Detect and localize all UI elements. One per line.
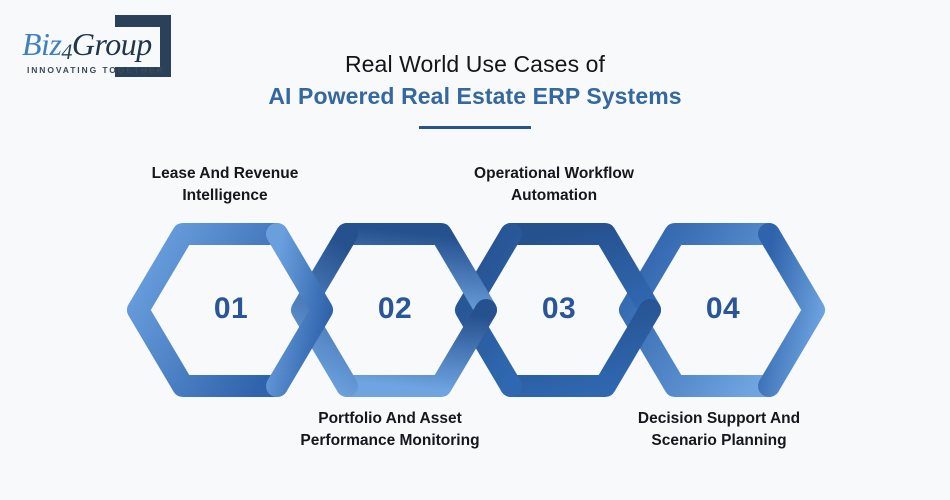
step-label-03-line2: Automation xyxy=(424,185,684,207)
logo-word-biz: Biz xyxy=(22,26,61,62)
logo-tagline: INNOVATING TOGETHER xyxy=(27,65,165,75)
hexagon-chain: 04 03 xyxy=(125,212,825,408)
step-label-01-line2: Intelligence xyxy=(95,185,355,207)
logo-word-group: Group xyxy=(72,26,152,62)
logo-wordmark: Biz4Group xyxy=(22,26,152,63)
step-label-04-line1: Decision Support And xyxy=(589,408,849,430)
step-label-02-line2: Performance Monitoring xyxy=(260,430,520,452)
step-label-01-line1: Lease And Revenue xyxy=(95,163,355,185)
step-label-02: Portfolio And Asset Performance Monitori… xyxy=(260,408,520,452)
step-label-04-line2: Scenario Planning xyxy=(589,430,849,452)
title-divider xyxy=(419,126,531,129)
hexagon-shape-01 xyxy=(125,212,337,408)
step-label-03: Operational Workflow Automation xyxy=(424,163,684,207)
step-label-02-line1: Portfolio And Asset xyxy=(260,408,520,430)
logo-digit-four: 4 xyxy=(61,39,72,64)
step-label-01: Lease And Revenue Intelligence xyxy=(95,163,355,207)
step-label-03-line1: Operational Workflow xyxy=(424,163,684,185)
hexagon-step-01[interactable]: 01 xyxy=(125,212,337,408)
page-title-line2: AI Powered Real Estate ERP Systems xyxy=(0,82,950,112)
step-label-04: Decision Support And Scenario Planning xyxy=(589,408,849,452)
